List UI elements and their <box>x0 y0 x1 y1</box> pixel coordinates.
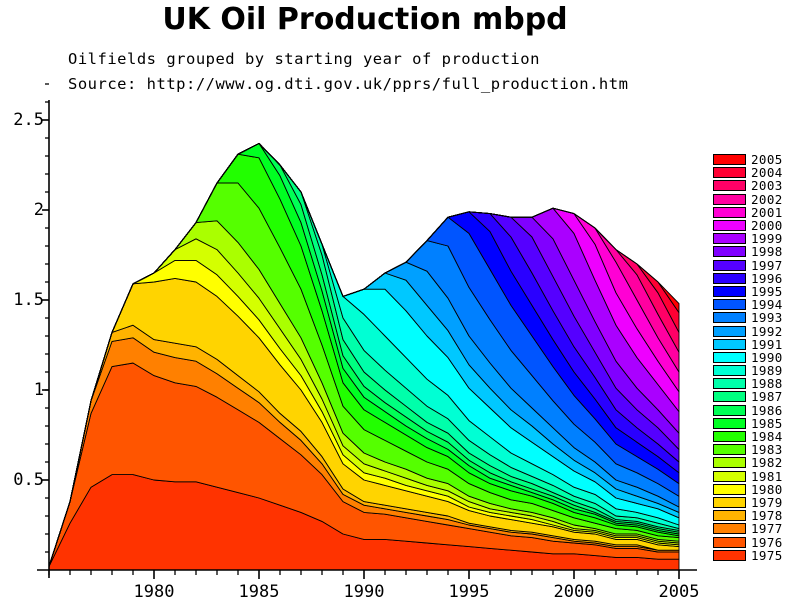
legend-item-2002[interactable]: 2002 <box>713 193 799 206</box>
legend-swatch <box>713 523 746 534</box>
legend-label: 1980 <box>751 484 783 495</box>
legend-item-1979[interactable]: 1979 <box>713 496 799 509</box>
legend-item-1977[interactable]: 1977 <box>713 522 799 535</box>
y-tick-label: 2 <box>0 200 44 220</box>
legend-swatch <box>713 233 746 244</box>
legend-swatch <box>713 471 746 482</box>
legend-swatch <box>713 457 746 468</box>
legend-label: 1997 <box>751 260 783 271</box>
area-series-group <box>49 143 679 570</box>
x-tick-label: 1980 <box>119 582 189 602</box>
legend-label: 1992 <box>751 326 783 337</box>
legend-swatch <box>713 167 746 178</box>
legend-item-1981[interactable]: 1981 <box>713 470 799 483</box>
legend-swatch <box>713 352 746 363</box>
legend-item-1992[interactable]: 1992 <box>713 324 799 337</box>
legend-item-2001[interactable]: 2001 <box>713 206 799 219</box>
legend-swatch <box>713 339 746 350</box>
legend-label: 1982 <box>751 457 783 468</box>
legend-label: 1977 <box>751 523 783 534</box>
legend-swatch <box>713 260 746 271</box>
legend-label: 1995 <box>751 286 783 297</box>
legend-item-1984[interactable]: 1984 <box>713 430 799 443</box>
legend-swatch <box>713 391 746 402</box>
y-tick-label: 1 <box>0 380 44 400</box>
y-tick-label: 0.5 <box>0 470 44 490</box>
legend-label: 2004 <box>751 167 783 178</box>
legend-item-1993[interactable]: 1993 <box>713 311 799 324</box>
legend-item-1989[interactable]: 1989 <box>713 364 799 377</box>
legend-swatch <box>713 550 746 561</box>
legend-label: 1991 <box>751 339 783 350</box>
legend-label: 2002 <box>751 194 783 205</box>
legend-item-1985[interactable]: 1985 <box>713 417 799 430</box>
legend-item-1998[interactable]: 1998 <box>713 245 799 258</box>
legend-item-2005[interactable]: 2005 <box>713 153 799 166</box>
legend-label: 2000 <box>751 220 783 231</box>
legend-swatch <box>713 431 746 442</box>
legend-swatch <box>713 537 746 548</box>
legend-item-1994[interactable]: 1994 <box>713 298 799 311</box>
legend-label: 1989 <box>751 365 783 376</box>
legend[interactable]: 2005200420032002200120001999199819971996… <box>713 153 799 562</box>
legend-label: 1981 <box>751 471 783 482</box>
legend-item-1990[interactable]: 1990 <box>713 351 799 364</box>
x-tick-label: 1995 <box>434 582 504 602</box>
chart-page: UK Oil Production mbpd Oilfields grouped… <box>0 0 799 599</box>
legend-label: 1975 <box>751 550 783 561</box>
legend-label: 1993 <box>751 312 783 323</box>
legend-item-1988[interactable]: 1988 <box>713 377 799 390</box>
legend-item-1983[interactable]: 1983 <box>713 443 799 456</box>
legend-swatch <box>713 273 746 284</box>
legend-swatch <box>713 418 746 429</box>
legend-label: 2003 <box>751 180 783 191</box>
legend-swatch <box>713 180 746 191</box>
legend-item-1987[interactable]: 1987 <box>713 390 799 403</box>
legend-item-1991[interactable]: 1991 <box>713 338 799 351</box>
legend-item-1997[interactable]: 1997 <box>713 259 799 272</box>
legend-swatch <box>713 246 746 257</box>
legend-label: 1999 <box>751 233 783 244</box>
legend-swatch <box>713 444 746 455</box>
legend-swatch <box>713 405 746 416</box>
legend-item-1999[interactable]: 1999 <box>713 232 799 245</box>
legend-swatch <box>713 194 746 205</box>
legend-label: 1983 <box>751 444 783 455</box>
x-tick-label: 1990 <box>329 582 399 602</box>
legend-swatch <box>713 286 746 297</box>
legend-item-1978[interactable]: 1978 <box>713 509 799 522</box>
stacked-area-plot <box>0 0 799 599</box>
legend-item-1982[interactable]: 1982 <box>713 456 799 469</box>
legend-label: 1990 <box>751 352 783 363</box>
legend-label: 1976 <box>751 537 783 548</box>
legend-item-2000[interactable]: 2000 <box>713 219 799 232</box>
legend-label: 1996 <box>751 273 783 284</box>
legend-item-1980[interactable]: 1980 <box>713 483 799 496</box>
legend-label: 1998 <box>751 246 783 257</box>
x-tick-label: 2000 <box>539 582 609 602</box>
x-tick-label: 1985 <box>224 582 294 602</box>
legend-swatch <box>713 154 746 165</box>
legend-label: 1986 <box>751 405 783 416</box>
legend-label: 1979 <box>751 497 783 508</box>
legend-swatch <box>713 220 746 231</box>
y-tick-label: 1.5 <box>0 290 44 310</box>
legend-label: 1984 <box>751 431 783 442</box>
legend-swatch <box>713 497 746 508</box>
legend-label: 2001 <box>751 207 783 218</box>
legend-label: 2005 <box>751 154 783 165</box>
legend-label: 1987 <box>751 391 783 402</box>
legend-swatch <box>713 365 746 376</box>
legend-label: 1994 <box>751 299 783 310</box>
x-tick-label: 2005 <box>644 582 714 602</box>
legend-swatch <box>713 484 746 495</box>
legend-item-1986[interactable]: 1986 <box>713 404 799 417</box>
legend-swatch <box>713 299 746 310</box>
legend-item-1995[interactable]: 1995 <box>713 285 799 298</box>
legend-item-2003[interactable]: 2003 <box>713 179 799 192</box>
legend-item-1976[interactable]: 1976 <box>713 535 799 548</box>
legend-swatch <box>713 207 746 218</box>
legend-swatch <box>713 326 746 337</box>
legend-item-2004[interactable]: 2004 <box>713 166 799 179</box>
y-tick-label: 2.5 <box>0 110 44 130</box>
legend-swatch <box>713 312 746 323</box>
legend-swatch <box>713 510 746 521</box>
legend-item-1996[interactable]: 1996 <box>713 272 799 285</box>
legend-label: 1985 <box>751 418 783 429</box>
legend-swatch <box>713 378 746 389</box>
legend-label: 1978 <box>751 510 783 521</box>
legend-label: 1988 <box>751 378 783 389</box>
legend-item-1975[interactable]: 1975 <box>713 549 799 562</box>
